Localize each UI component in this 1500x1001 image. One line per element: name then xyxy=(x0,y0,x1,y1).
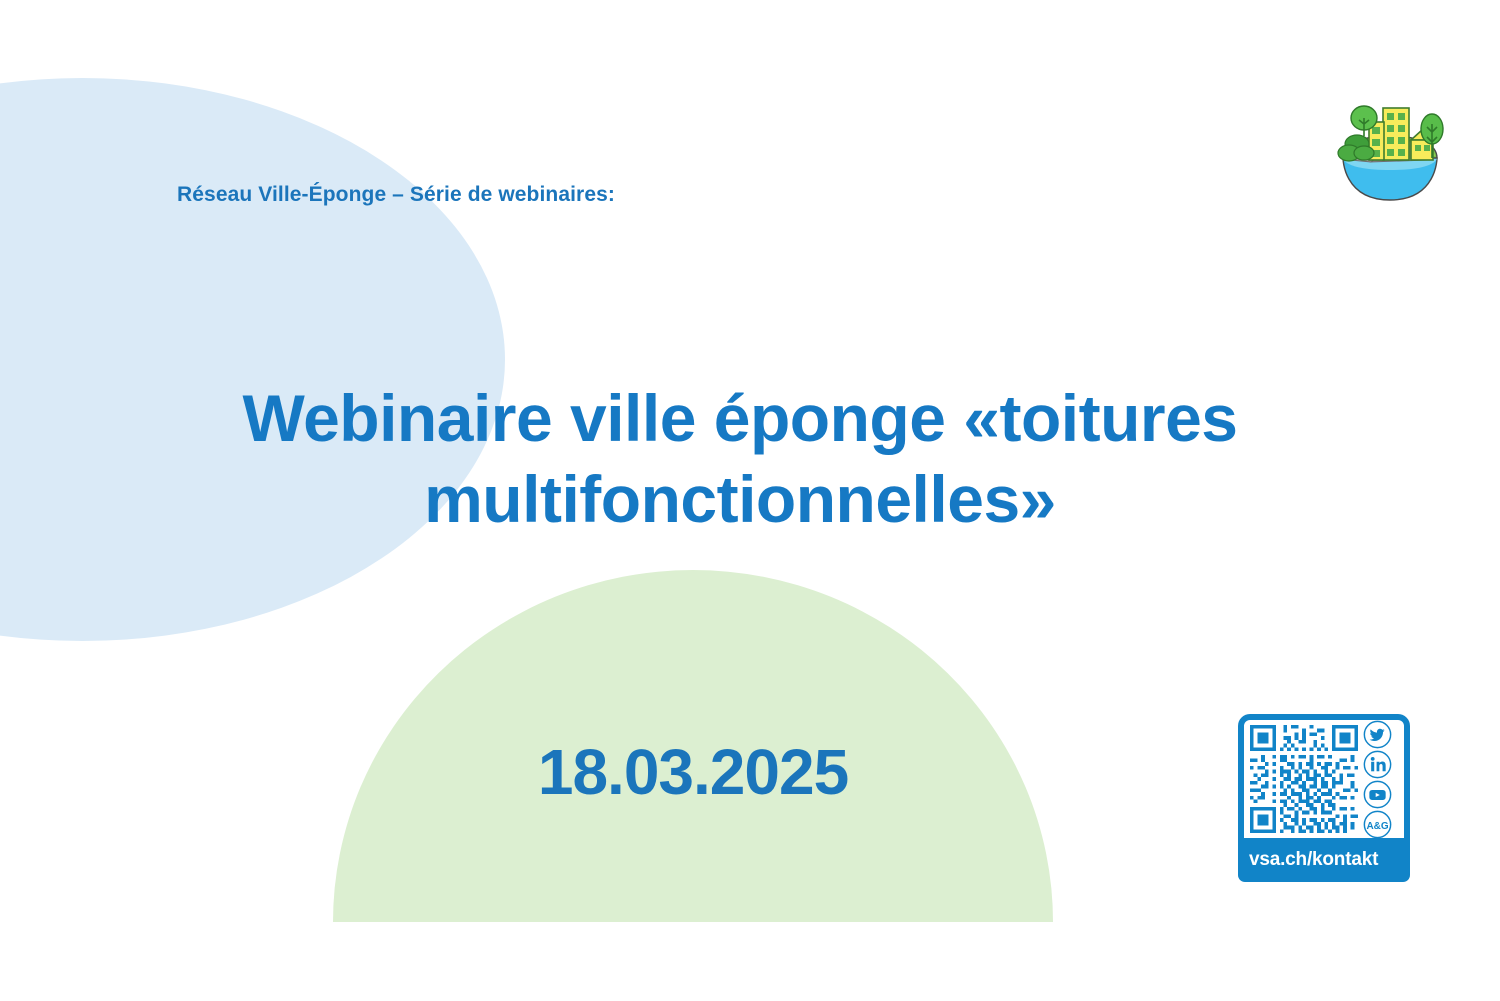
aundg-icon[interactable]: A&G xyxy=(1363,810,1392,839)
social-links: A&G xyxy=(1363,720,1392,839)
qr-contact-badge[interactable]: A&G vsa.ch/kontakt xyxy=(1238,714,1410,882)
sponge-city-logo-icon xyxy=(1331,96,1449,204)
twitter-icon[interactable] xyxy=(1363,720,1392,749)
qr-badge-url-bar[interactable]: vsa.ch/kontakt xyxy=(1238,838,1410,882)
blue-circle-shape xyxy=(0,78,505,641)
series-subtitle: Réseau Ville-Éponge – Série de webinaire… xyxy=(177,183,615,207)
qr-badge-url-label: vsa.ch/kontakt xyxy=(1249,849,1378,871)
svg-text:A&G: A&G xyxy=(1366,821,1388,832)
qr-badge-content: A&G xyxy=(1244,720,1404,838)
qr-code[interactable] xyxy=(1250,725,1358,833)
linkedin-icon[interactable] xyxy=(1363,750,1392,779)
event-date: 18.03.2025 xyxy=(333,735,1053,809)
presentation-slide: Réseau Ville-Éponge – Série de webinaire… xyxy=(0,0,1500,1001)
youtube-icon[interactable] xyxy=(1363,780,1392,809)
page-title: Webinaire ville éponge «toitures multifo… xyxy=(150,378,1330,539)
sponge-city-logo xyxy=(1331,96,1449,204)
